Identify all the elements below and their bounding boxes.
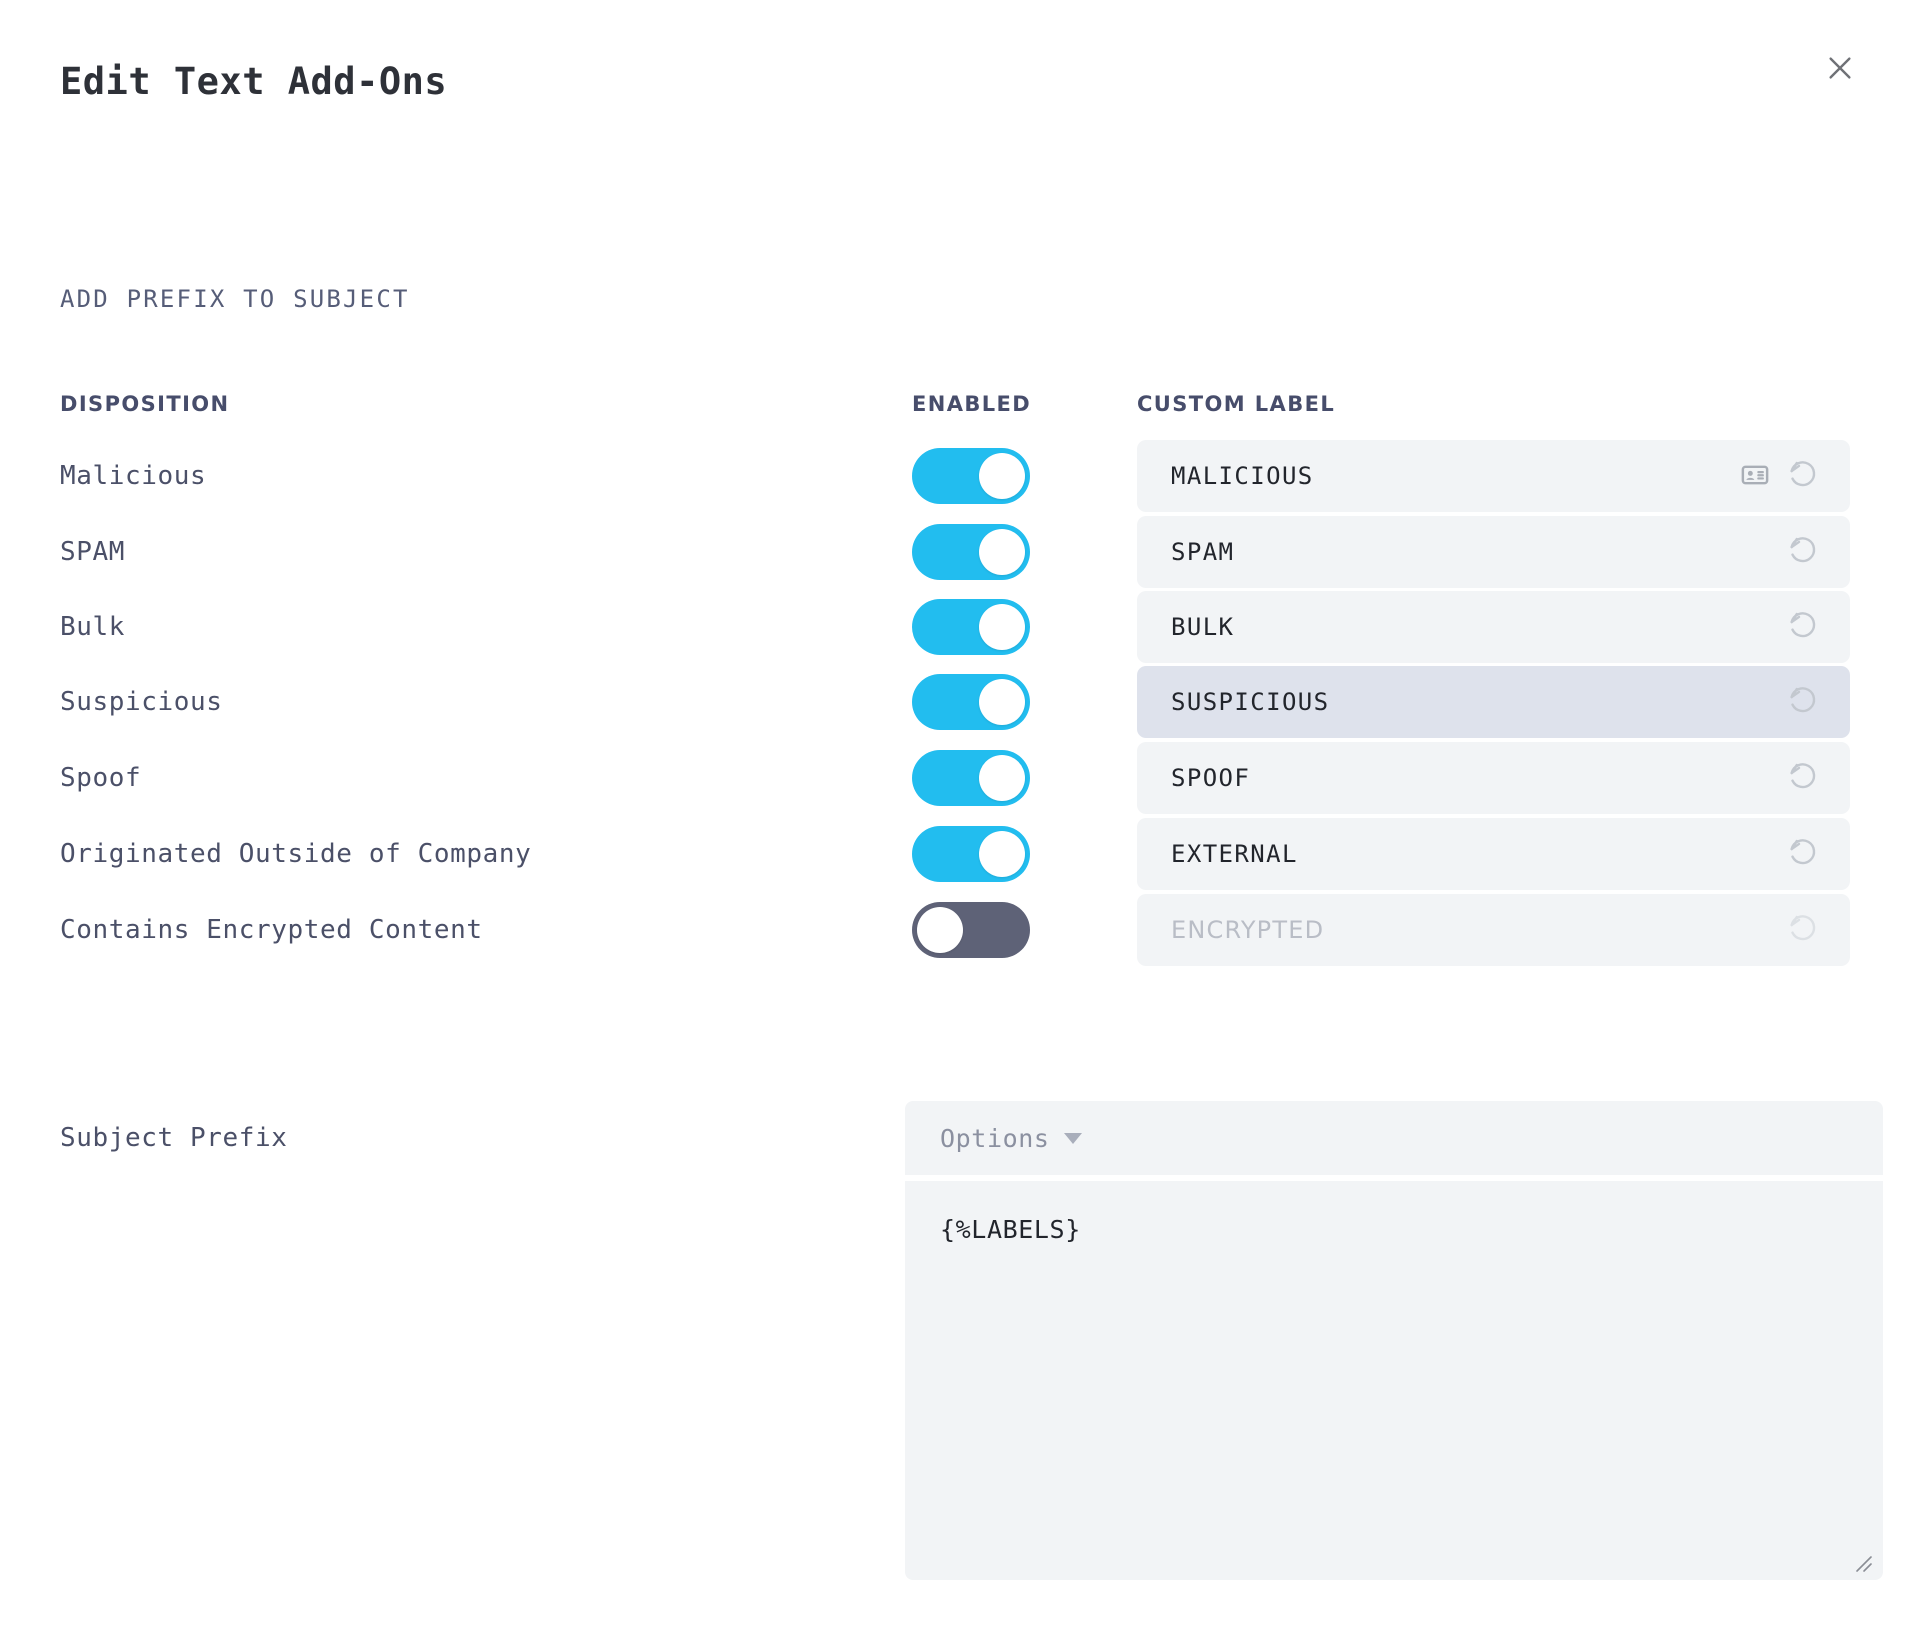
reset-icon bbox=[1786, 609, 1820, 646]
subject-prefix-textarea[interactable] bbox=[905, 1181, 1883, 1580]
field-icon-group bbox=[1786, 535, 1820, 569]
reset-icon bbox=[1786, 684, 1820, 721]
custom-label-value: SUSPICIOUS bbox=[1171, 688, 1786, 716]
reset-button[interactable] bbox=[1786, 610, 1820, 644]
field-icon-group bbox=[1786, 610, 1820, 644]
reset-button[interactable] bbox=[1786, 459, 1820, 493]
chevron-down-icon bbox=[1064, 1133, 1082, 1144]
toggle-knob bbox=[917, 907, 963, 953]
reset-icon bbox=[1786, 534, 1820, 571]
textarea-resize-handle[interactable] bbox=[1849, 1549, 1873, 1573]
subject-prefix-label: Subject Prefix bbox=[60, 1123, 288, 1153]
field-icon-group bbox=[1786, 913, 1820, 947]
id-card-button[interactable] bbox=[1738, 459, 1772, 493]
reset-button[interactable] bbox=[1786, 685, 1820, 719]
id-card-icon bbox=[1741, 461, 1769, 492]
field-icon-group bbox=[1786, 761, 1820, 795]
options-dropdown[interactable]: Options bbox=[905, 1101, 1883, 1175]
reset-icon bbox=[1786, 912, 1820, 949]
table-row: BulkBULK bbox=[0, 591, 1908, 663]
custom-label-field[interactable]: EXTERNAL bbox=[1137, 818, 1850, 890]
disposition-label: Spoof bbox=[60, 763, 141, 793]
toggle-knob bbox=[979, 529, 1025, 575]
custom-label-field[interactable]: BULK bbox=[1137, 591, 1850, 663]
custom-label-value: SPOOF bbox=[1171, 764, 1786, 792]
disposition-label: Bulk bbox=[60, 612, 125, 642]
toggle-knob bbox=[979, 453, 1025, 499]
enabled-toggle[interactable] bbox=[912, 826, 1030, 882]
table-row: SuspiciousSUSPICIOUS bbox=[0, 666, 1908, 738]
custom-label-field[interactable]: ENCRYPTED bbox=[1137, 894, 1850, 966]
toggle-knob bbox=[979, 679, 1025, 725]
custom-label-value: MALICIOUS bbox=[1171, 462, 1738, 490]
options-dropdown-label: Options bbox=[940, 1124, 1050, 1153]
toggle-knob bbox=[979, 831, 1025, 877]
resize-grip-icon bbox=[1849, 1558, 1873, 1577]
reset-button[interactable] bbox=[1786, 913, 1820, 947]
field-icon-group bbox=[1738, 459, 1820, 493]
enabled-toggle[interactable] bbox=[912, 750, 1030, 806]
disposition-label: SPAM bbox=[60, 537, 125, 567]
disposition-label: Malicious bbox=[60, 461, 206, 491]
custom-label-value: EXTERNAL bbox=[1171, 840, 1786, 868]
enabled-toggle[interactable] bbox=[912, 674, 1030, 730]
reset-icon bbox=[1786, 836, 1820, 873]
custom-label-value: SPAM bbox=[1171, 538, 1786, 566]
field-icon-group bbox=[1786, 685, 1820, 719]
disposition-label: Contains Encrypted Content bbox=[60, 915, 483, 945]
reset-icon bbox=[1786, 760, 1820, 797]
table-row: SpoofSPOOF bbox=[0, 742, 1908, 814]
disposition-label: Originated Outside of Company bbox=[60, 839, 531, 869]
table-row: MaliciousMALICIOUS bbox=[0, 440, 1908, 512]
toggle-knob bbox=[979, 604, 1025, 650]
disposition-label: Suspicious bbox=[60, 687, 223, 717]
enabled-toggle[interactable] bbox=[912, 524, 1030, 580]
reset-icon bbox=[1786, 458, 1820, 495]
custom-label-field[interactable]: SPAM bbox=[1137, 516, 1850, 588]
custom-label-value: BULK bbox=[1171, 613, 1786, 641]
custom-label-field[interactable]: MALICIOUS bbox=[1137, 440, 1850, 512]
custom-label-value: ENCRYPTED bbox=[1171, 916, 1786, 944]
enabled-toggle[interactable] bbox=[912, 448, 1030, 504]
custom-label-field[interactable]: SUSPICIOUS bbox=[1137, 666, 1850, 738]
reset-button[interactable] bbox=[1786, 837, 1820, 871]
edit-text-addons-dialog: Edit Text Add-Ons ADD PREFIX TO SUBJECT … bbox=[0, 0, 1908, 1650]
custom-label-field[interactable]: SPOOF bbox=[1137, 742, 1850, 814]
toggle-knob bbox=[979, 755, 1025, 801]
enabled-toggle[interactable] bbox=[912, 599, 1030, 655]
table-row: SPAMSPAM bbox=[0, 516, 1908, 588]
table-row: Contains Encrypted ContentENCRYPTED bbox=[0, 894, 1908, 966]
reset-button[interactable] bbox=[1786, 761, 1820, 795]
field-icon-group bbox=[1786, 837, 1820, 871]
enabled-toggle[interactable] bbox=[912, 902, 1030, 958]
table-row: Originated Outside of CompanyEXTERNAL bbox=[0, 818, 1908, 890]
reset-button[interactable] bbox=[1786, 535, 1820, 569]
